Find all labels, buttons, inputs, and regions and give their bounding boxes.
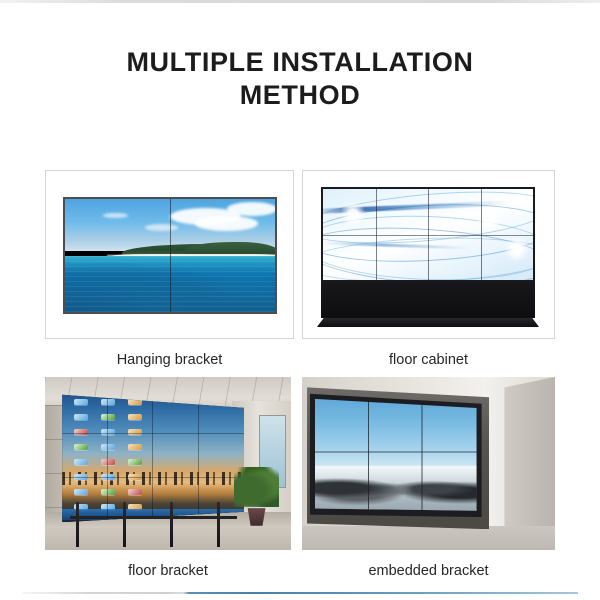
cabinet-body bbox=[321, 282, 535, 318]
cloud-shape bbox=[103, 213, 128, 219]
gallery-card-hanging-bracket[interactable] bbox=[45, 170, 294, 339]
showroom-scene-image bbox=[45, 377, 291, 550]
video-wall-embedded-bracket bbox=[315, 398, 477, 512]
plant-pot bbox=[246, 508, 267, 526]
panel-seam-horizontal bbox=[323, 235, 533, 236]
cabinet-base-foot bbox=[317, 318, 539, 327]
floor-bracket-frame bbox=[70, 502, 237, 547]
page-title-line-1: MULTIPLE INSTALLATION bbox=[126, 47, 473, 77]
potted-plant bbox=[234, 467, 278, 526]
page-title-line-2: METHOD bbox=[0, 79, 600, 112]
bracket-post bbox=[76, 502, 79, 547]
top-divider bbox=[0, 0, 600, 3]
light-glow bbox=[340, 201, 366, 227]
cloud-shape bbox=[145, 224, 179, 231]
gallery-photo-floor-bracket[interactable] bbox=[45, 377, 291, 550]
side-wall-region bbox=[504, 377, 555, 550]
caption-floor-cabinet: floor cabinet bbox=[302, 353, 555, 368]
bracket-post bbox=[217, 502, 220, 547]
panel-seam-vertical bbox=[170, 199, 171, 312]
bracket-post bbox=[170, 502, 173, 547]
embedded-wall-render-image bbox=[302, 377, 555, 550]
panel-seam-overlay bbox=[315, 398, 477, 512]
bracket-rail bbox=[70, 516, 237, 519]
bottom-divider bbox=[22, 592, 578, 594]
page-title: MULTIPLE INSTALLATION METHOD bbox=[0, 46, 600, 112]
plant-leaves bbox=[234, 467, 278, 507]
light-glow bbox=[504, 236, 530, 262]
video-wall-floor-cabinet bbox=[321, 187, 535, 282]
bracket-post bbox=[123, 502, 126, 547]
gallery-card-floor-cabinet[interactable] bbox=[302, 170, 555, 339]
cloud-shape bbox=[227, 202, 277, 216]
island-treeline bbox=[183, 242, 277, 254]
installation-method-page: MULTIPLE INSTALLATION METHOD Hanging bra… bbox=[0, 0, 600, 600]
caption-embedded-bracket: embedded bracket bbox=[302, 564, 555, 579]
video-wall-hanging-bracket bbox=[63, 197, 277, 314]
cloud-shape bbox=[195, 216, 258, 231]
floor-region bbox=[302, 526, 555, 550]
caption-floor-bracket: floor bracket bbox=[45, 564, 291, 579]
gallery-photo-embedded-bracket[interactable] bbox=[302, 377, 555, 550]
caption-hanging-bracket: Hanging bracket bbox=[45, 353, 294, 368]
floor-cabinet-unit bbox=[317, 187, 539, 327]
